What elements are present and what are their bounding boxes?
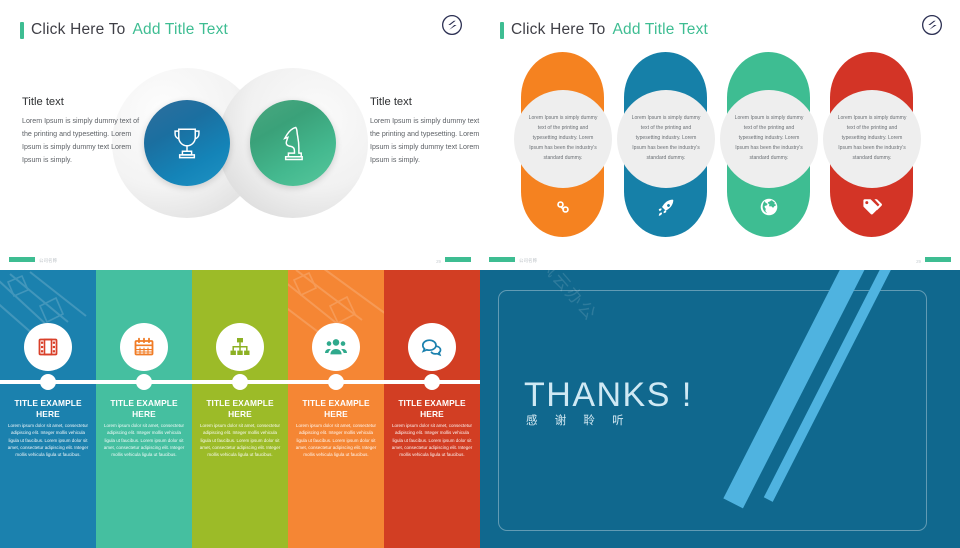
- timeline-column-2[interactable]: TITLE EXAMPLE HERE Lorem ipsum dolor sit…: [96, 270, 192, 548]
- timeline-body-5: Lorem ipsum dolor sit amet, consectetur …: [391, 422, 473, 458]
- timeline-icon-circle-4: [312, 323, 360, 371]
- timeline-node-5: [424, 374, 440, 390]
- link-chain-icon: [551, 195, 575, 219]
- timeline-column-3[interactable]: TITLE EXAMPLE HERE Lorem ipsum dolor sit…: [192, 270, 288, 548]
- timeline-icon-circle-2: [120, 323, 168, 371]
- users-group-icon: [324, 335, 348, 359]
- timeline-icon-circle-1: [24, 323, 72, 371]
- page-title: Click Here To Add Title Text: [500, 21, 708, 39]
- pill-body-2: Lorem Ipsum is simply dummy text of the …: [629, 114, 703, 164]
- tag-icon: [860, 195, 884, 219]
- slide-footer: 公司名称 29: [480, 252, 960, 264]
- slide-1-two-circles[interactable]: Click Here To Add Title Text: [0, 0, 480, 270]
- globe-icon: [757, 195, 781, 219]
- body-left: Lorem Ipsum is simply dummy text of the …: [22, 115, 140, 167]
- title-accent-bar: [500, 22, 504, 39]
- timeline-node-1: [40, 374, 56, 390]
- timeline-title-3: TITLE EXAMPLE HERE: [197, 398, 283, 419]
- title-accent-text: Add Title Text: [612, 21, 708, 39]
- rocket-icon: [654, 195, 678, 219]
- body-right: Lorem Ipsum is simply dummy text of the …: [370, 115, 480, 167]
- chess-knight-icon: [271, 121, 315, 165]
- slide-3-timeline[interactable]: TITLE EXAMPLE HERE Lorem ipsum dolor sit…: [0, 270, 480, 548]
- heading-right: Title text: [370, 96, 480, 108]
- footer-bar-left: [489, 257, 515, 262]
- pill-body-4: Lorem Ipsum is simply dummy text of the …: [835, 114, 909, 164]
- timeline-body-4: Lorem ipsum dolor sit amet, consectetur …: [295, 422, 377, 458]
- thanks-background: 风云办公 THANKS ! 感 谢 聆 听: [480, 270, 960, 548]
- footer-company-name: 公司名称: [39, 258, 57, 264]
- slide-4-thanks[interactable]: 风云办公 THANKS ! 感 谢 聆 听: [480, 270, 960, 548]
- thanks-subline: 感 谢 聆 听: [526, 412, 631, 428]
- slide-footer: 公司名称 29: [0, 252, 480, 264]
- pill-bubble-4: Lorem Ipsum is simply dummy text of the …: [823, 90, 921, 188]
- timeline-body-3: Lorem ipsum dolor sit amet, consectetur …: [199, 422, 281, 458]
- timeline-column-4[interactable]: TITLE EXAMPLE HERE Lorem ipsum dolor sit…: [288, 270, 384, 548]
- text-block-right: Title text Lorem Ipsum is simply dummy t…: [370, 96, 480, 167]
- title-prefix: Click Here To: [511, 21, 605, 39]
- icon-circle-right[interactable]: [250, 100, 336, 186]
- slide-deck: Click Here To Add Title Text: [0, 0, 960, 548]
- timeline-icon-circle-5: [408, 323, 456, 371]
- timeline-title-1: TITLE EXAMPLE HERE: [5, 398, 91, 419]
- title-accent-bar: [20, 22, 24, 39]
- timeline-title-5: TITLE EXAMPLE HERE: [389, 398, 475, 419]
- timeline-column-5[interactable]: TITLE EXAMPLE HERE Lorem ipsum dolor sit…: [384, 270, 480, 548]
- timeline-body-2: Lorem ipsum dolor sit amet, consectetur …: [103, 422, 185, 458]
- org-chart-icon: [228, 335, 252, 359]
- footer-page-number: 29: [916, 259, 921, 264]
- timeline-node-2: [136, 374, 152, 390]
- calendar-icon: [132, 335, 156, 359]
- pill-body-3: Lorem Ipsum is simply dummy text of the …: [732, 114, 806, 164]
- brand-logo-icon: [441, 14, 463, 36]
- pill-bubble-3: Lorem Ipsum is simply dummy text of the …: [720, 90, 818, 188]
- speech-bubbles-icon: [420, 335, 444, 359]
- timeline-body-1: Lorem ipsum dolor sit amet, consectetur …: [7, 422, 89, 458]
- timeline-node-3: [232, 374, 248, 390]
- pill-row: Add Title text Lorem Ipsum is simply dum…: [480, 52, 960, 237]
- pill-bubble-2: Lorem Ipsum is simply dummy text of the …: [617, 90, 715, 188]
- title-accent-text: Add Title Text: [132, 21, 228, 39]
- timeline-node-4: [328, 374, 344, 390]
- icon-circle-left[interactable]: [144, 100, 230, 186]
- timeline-title-4: TITLE EXAMPLE HERE: [293, 398, 379, 419]
- trophy-icon: [165, 121, 209, 165]
- film-strip-icon: [36, 335, 60, 359]
- heading-left: Title text: [22, 96, 140, 108]
- thanks-headline: THANKS !: [524, 376, 693, 415]
- brand-logo-icon: [921, 14, 943, 36]
- timeline-column-1[interactable]: TITLE EXAMPLE HERE Lorem ipsum dolor sit…: [0, 270, 96, 548]
- timeline-columns: TITLE EXAMPLE HERE Lorem ipsum dolor sit…: [0, 270, 480, 548]
- timeline-icon-circle-3: [216, 323, 264, 371]
- pill-bubble-1: Lorem Ipsum is simply dummy text of the …: [514, 90, 612, 188]
- footer-page-number: 29: [436, 259, 441, 264]
- pill-body-1: Lorem Ipsum is simply dummy text of the …: [526, 114, 600, 164]
- slide-2-four-pills[interactable]: Click Here To Add Title Text Add Title t…: [480, 0, 960, 270]
- footer-bar-left: [9, 257, 35, 262]
- footer-bar-right: [925, 257, 951, 262]
- footer-bar-right: [445, 257, 471, 262]
- page-title: Click Here To Add Title Text: [20, 21, 228, 39]
- footer-company-name: 公司名称: [519, 258, 537, 264]
- text-block-left: Title text Lorem Ipsum is simply dummy t…: [22, 96, 140, 167]
- timeline-title-2: TITLE EXAMPLE HERE: [101, 398, 187, 419]
- title-prefix: Click Here To: [31, 21, 125, 39]
